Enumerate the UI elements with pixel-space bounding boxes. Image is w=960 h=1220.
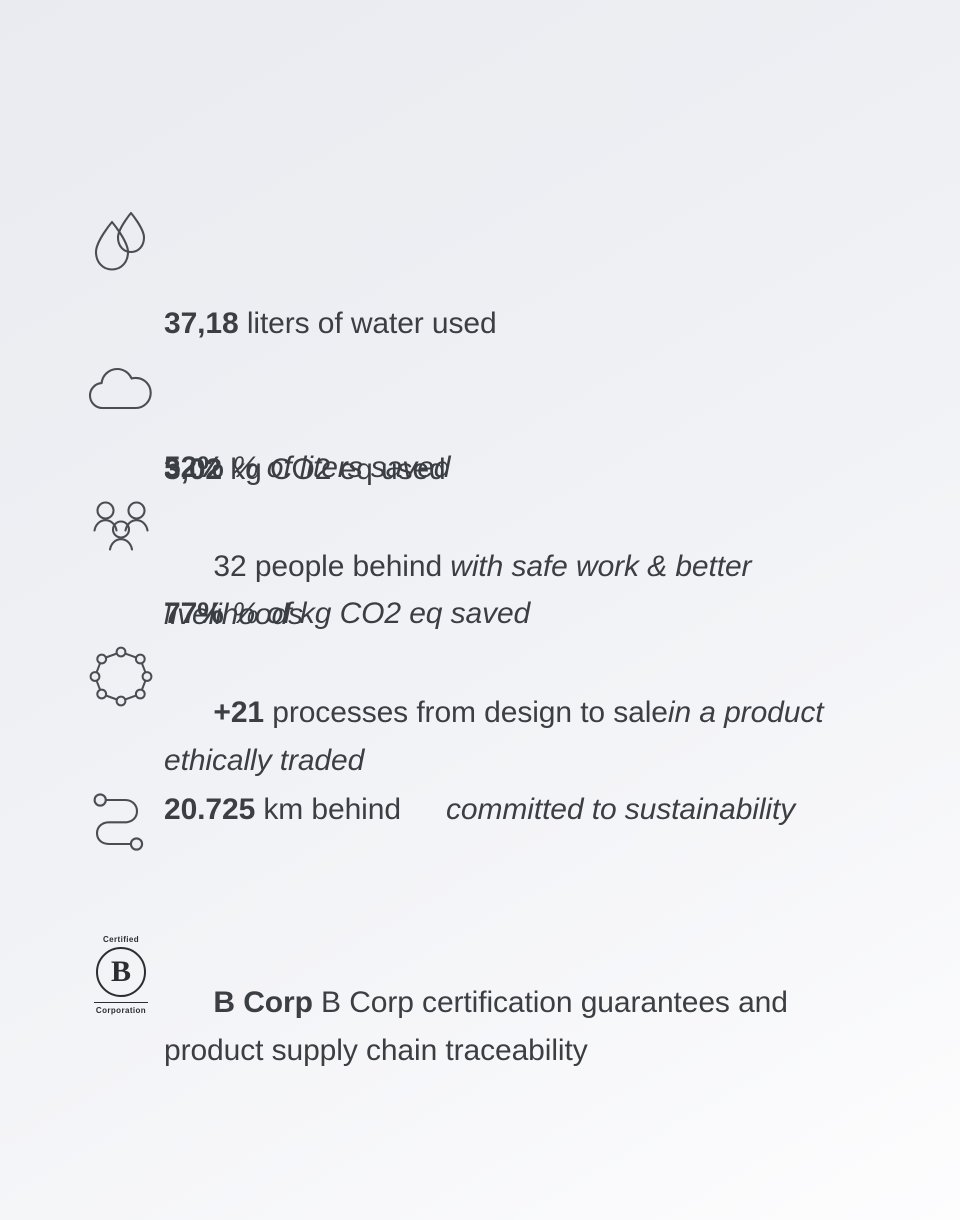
metric-label: km behind (255, 793, 401, 826)
bcorp-divider (94, 1002, 148, 1003)
metric-label: kg CO2 eq used (222, 453, 446, 486)
metric-value: 20.725 (164, 793, 255, 826)
people-group-icon (78, 495, 164, 559)
distance-amount: 20.725 km behind (164, 786, 446, 834)
bcorp-circle: B (96, 947, 146, 997)
bcorp-certified-icon: Certified B Corporation (78, 931, 164, 1025)
impact-metrics-panel: 37,18 liters of water used 52% % of lite… (0, 0, 960, 1220)
metric-value: B Corp (213, 986, 312, 1019)
metric-value: +21 (213, 696, 264, 729)
metric-text-distance: 20.725 km behind committed to sustainabi… (164, 786, 878, 834)
bcorp-logo: Certified B Corporation (89, 935, 153, 1025)
distance-caption: committed to sustainability (446, 786, 878, 834)
metric-line: 3,02 kg CO2 eq used (164, 446, 898, 494)
route-icon (78, 786, 164, 852)
metric-value: 32 people behind (213, 550, 450, 583)
metric-value: 37,18 (164, 307, 239, 340)
water-drops-icon (78, 204, 164, 272)
metric-label: processes from design to sale (264, 696, 668, 729)
cloud-icon (78, 350, 164, 414)
process-ring-icon (78, 641, 164, 707)
metric-text-bcorp: B Corp B Corp certification guarantees a… (164, 931, 878, 1123)
metric-row-distance: 20.725 km behind committed to sustainabi… (78, 786, 878, 852)
bcorp-bottom-label: Corporation (96, 1006, 146, 1016)
metric-line: 37,18 liters of water used (164, 300, 898, 348)
metric-row-bcorp: Certified B Corporation B Corp B Corp ce… (78, 931, 878, 1123)
metric-value: 3,02 (164, 453, 222, 486)
bcorp-letter: B (111, 957, 131, 987)
metric-label: liters of water used (239, 307, 497, 340)
bcorp-top-label: Certified (103, 935, 139, 945)
